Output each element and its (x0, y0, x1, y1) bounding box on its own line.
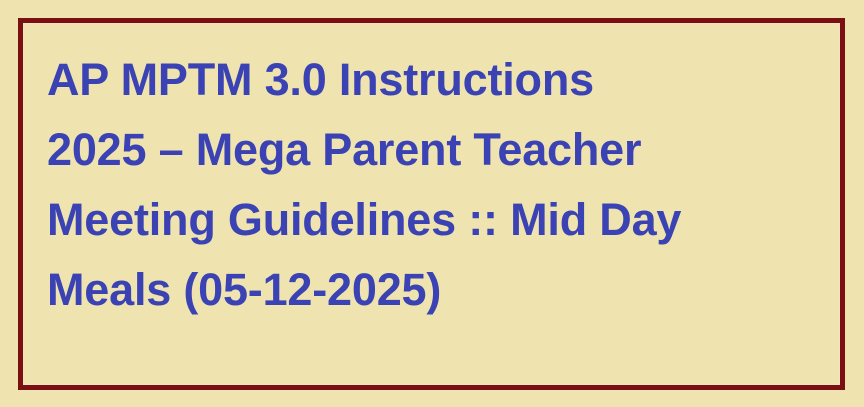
headline-block: AP MPTM 3.0 Instructions 2025 – Mega Par… (47, 45, 830, 325)
headline-line-3: Meeting Guidelines :: Mid Day (47, 185, 830, 255)
headline-line-4: Meals (05-12-2025) (47, 255, 830, 325)
banner-root: AP MPTM 3.0 Instructions 2025 – Mega Par… (0, 0, 864, 407)
banner-border-frame: AP MPTM 3.0 Instructions 2025 – Mega Par… (18, 18, 845, 390)
headline-line-2: 2025 – Mega Parent Teacher (47, 115, 830, 185)
headline-line-1: AP MPTM 3.0 Instructions (47, 45, 830, 115)
